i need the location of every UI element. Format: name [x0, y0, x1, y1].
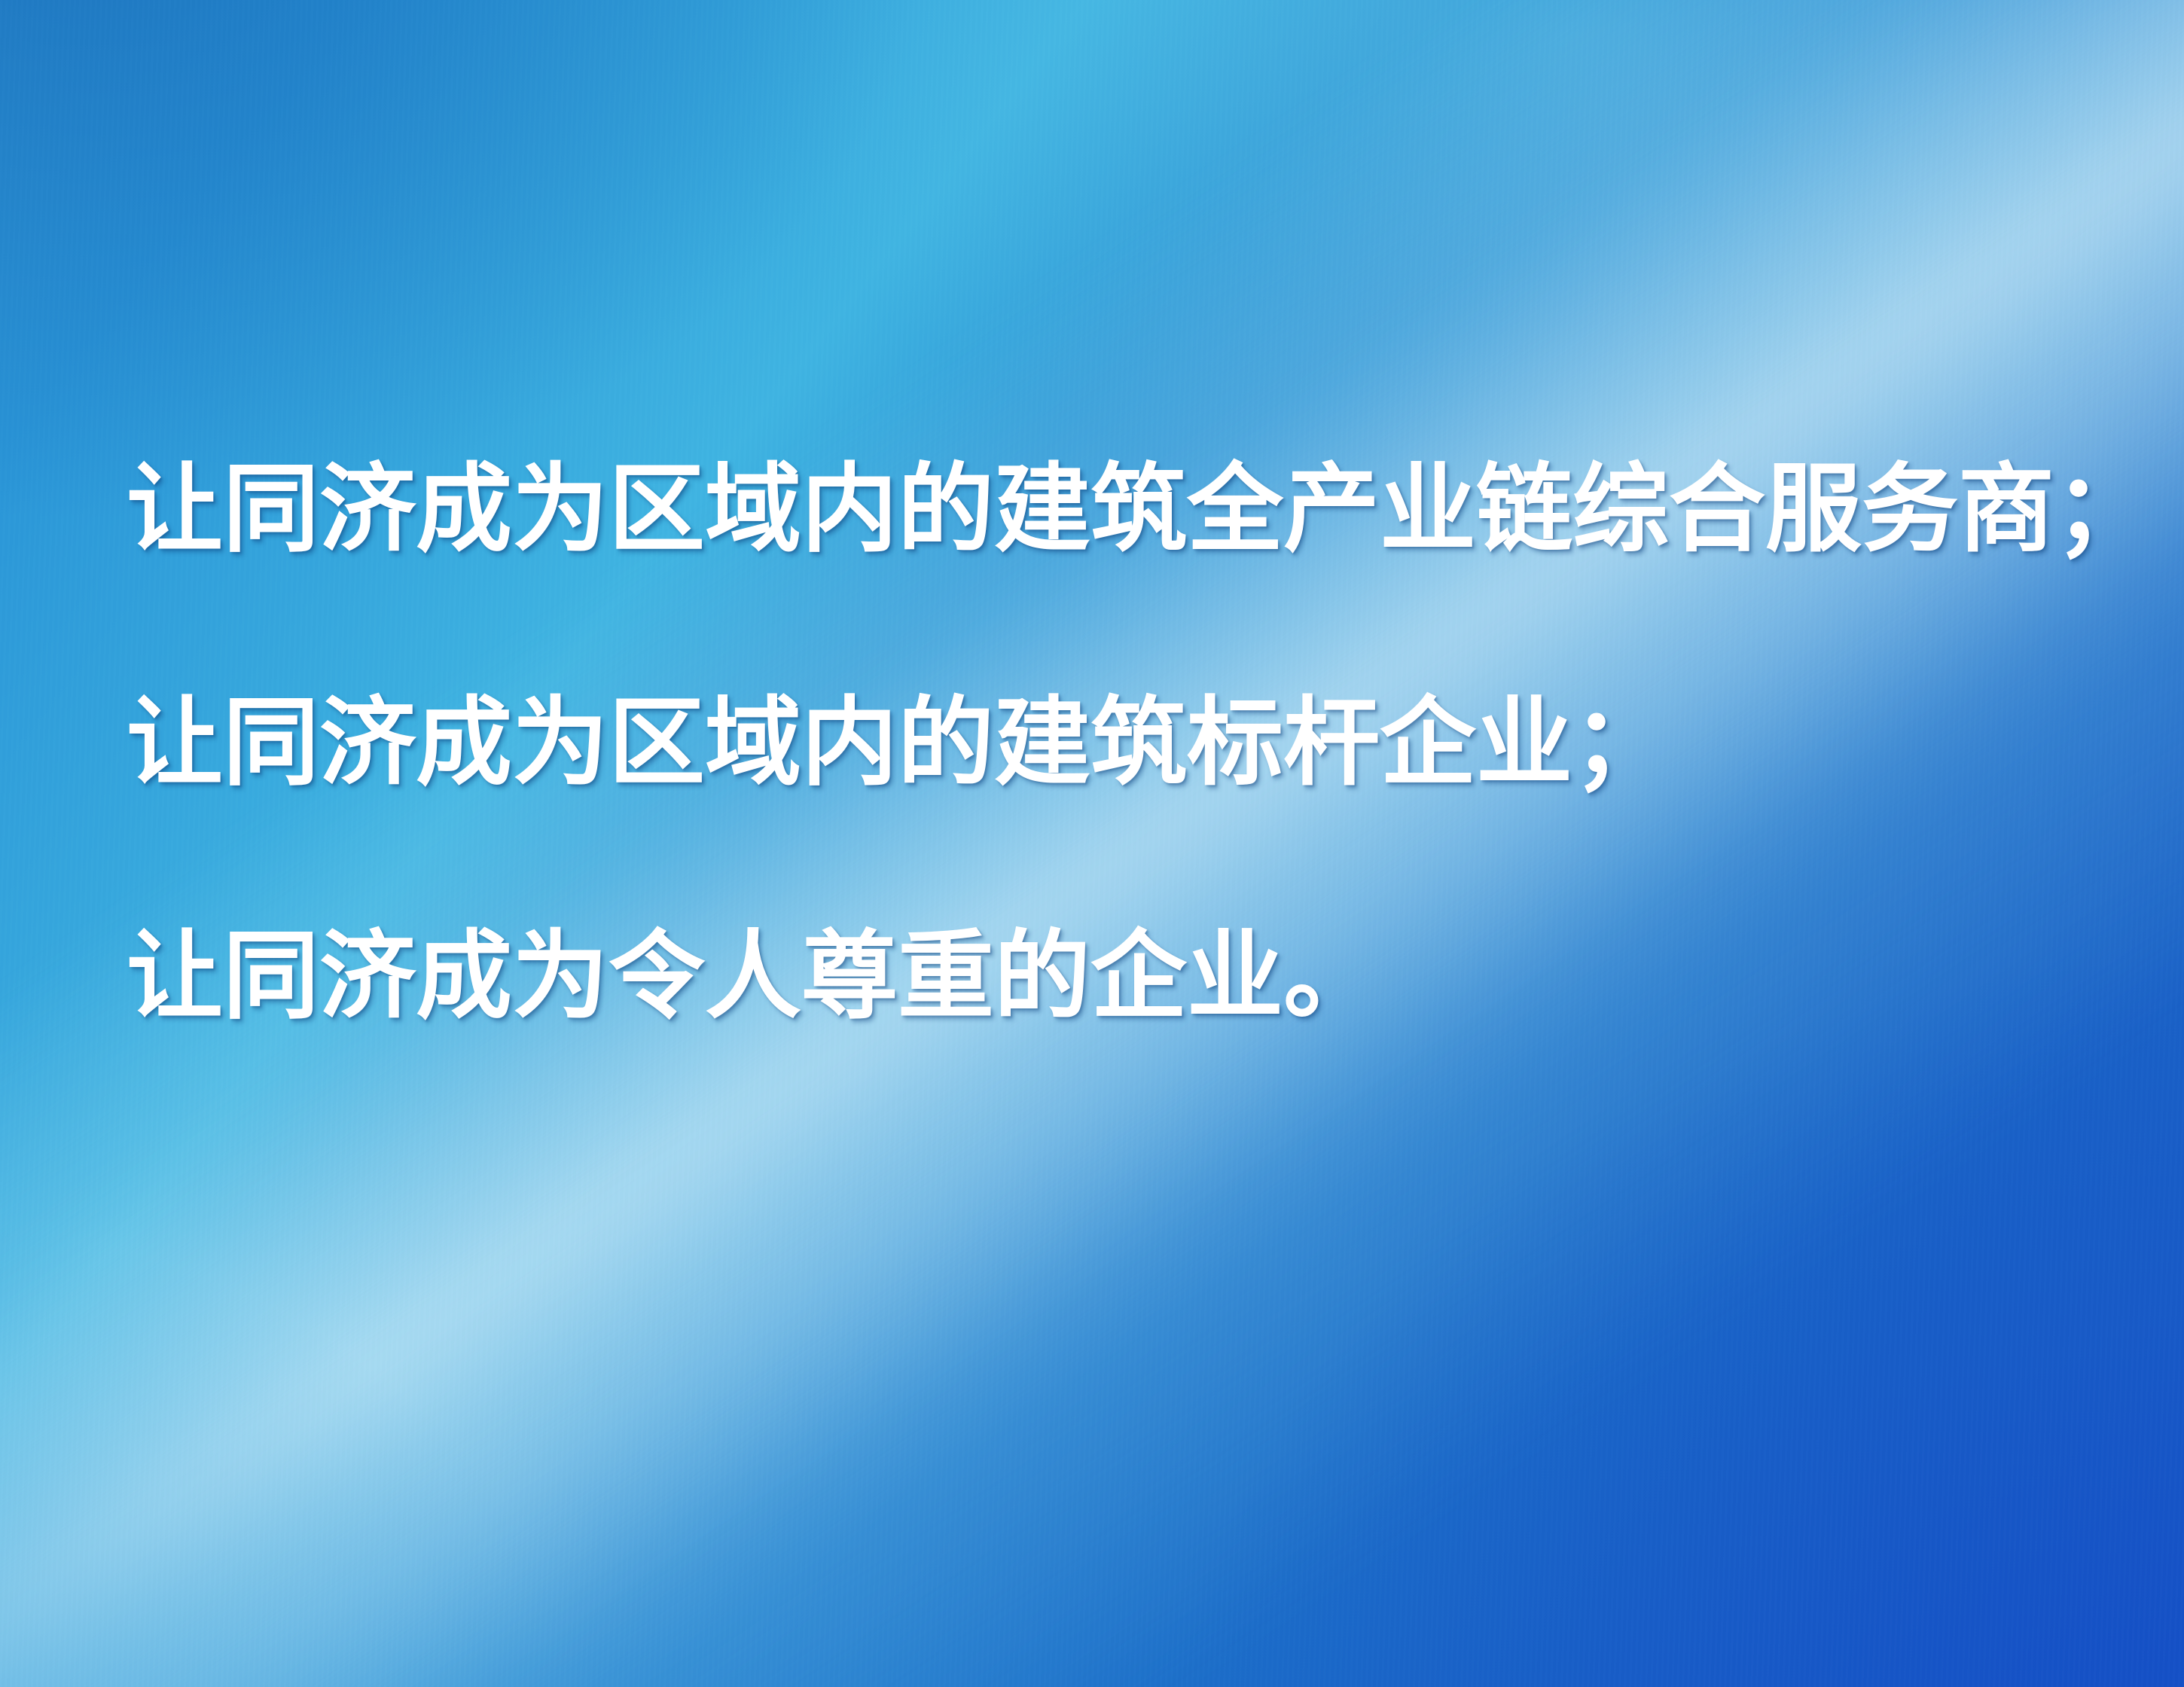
slide-line-3: 让同济成为令人尊重的企业。 [127, 928, 2054, 1024]
slide-line-1: 让同济成为区域内的建筑全产业链综合服务商； [127, 461, 2054, 557]
line-spacer-1 [127, 557, 2054, 694]
presentation-slide: 让同济成为区域内的建筑全产业链综合服务商； 让同济成为区域内的建筑标杆企业； 让… [0, 0, 2184, 1687]
slide-line-2: 让同济成为区域内的建筑标杆企业； [127, 694, 2054, 791]
line-spacer-2 [127, 791, 2054, 928]
slide-text-block: 让同济成为区域内的建筑全产业链综合服务商； 让同济成为区域内的建筑标杆企业； 让… [127, 461, 2054, 1024]
